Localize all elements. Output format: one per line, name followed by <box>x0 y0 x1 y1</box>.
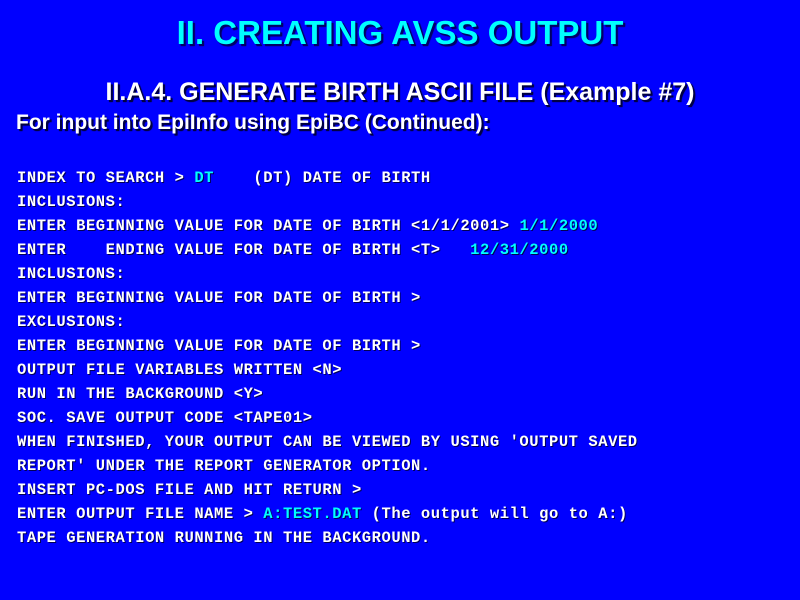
terminal-prompt-text: INDEX TO SEARCH > <box>17 169 194 187</box>
terminal-prompt-text: ENTER OUTPUT FILE NAME > <box>17 505 263 523</box>
line-insert-pc-dos: INSERT PC-DOS FILE AND HIT RETURN > <box>17 478 797 502</box>
terminal-prompt-text: ENTER BEGINNING VALUE FOR DATE OF BIRTH … <box>17 289 421 307</box>
line-report-under: REPORT' UNDER THE REPORT GENERATOR OPTIO… <box>17 454 797 478</box>
terminal-prompt-text: REPORT' UNDER THE REPORT GENERATOR OPTIO… <box>17 457 431 475</box>
terminal-prompt-text: ENTER BEGINNING VALUE FOR DATE OF BIRTH … <box>17 337 421 355</box>
line-tape-generation: TAPE GENERATION RUNNING IN THE BACKGROUN… <box>17 526 797 550</box>
terminal-user-input: 1/1/2000 <box>519 217 598 235</box>
terminal-prompt-text: INCLUSIONS: <box>17 193 125 211</box>
terminal-user-input: A:TEST.DAT <box>263 505 362 523</box>
line-inclusions-1: INCLUSIONS: <box>17 190 797 214</box>
terminal-transcript: INDEX TO SEARCH > DT (DT) DATE OF BIRTHI… <box>17 166 797 550</box>
line-enter-beginning-1: ENTER BEGINNING VALUE FOR DATE OF BIRTH … <box>17 214 797 238</box>
slide-subtitle-secondary: For input into EpiInfo using EpiBC (Cont… <box>16 110 490 135</box>
line-inclusions-2: INCLUSIONS: <box>17 262 797 286</box>
terminal-prompt-text: ENTER ENDING VALUE FOR DATE OF BIRTH <T> <box>17 241 470 259</box>
line-when-finished: WHEN FINISHED, YOUR OUTPUT CAN BE VIEWED… <box>17 430 797 454</box>
presentation-slide: II. CREATING AVSS OUTPUT II.A.4. GENERAT… <box>0 0 800 600</box>
page-title: II. CREATING AVSS OUTPUT <box>0 14 800 52</box>
terminal-prompt-text: ENTER BEGINNING VALUE FOR DATE OF BIRTH … <box>17 217 519 235</box>
terminal-prompt-text: SOC. SAVE OUTPUT CODE <TAPE01> <box>17 409 313 427</box>
terminal-prompt-text: EXCLUSIONS: <box>17 313 125 331</box>
line-enter-beginning-2: ENTER BEGINNING VALUE FOR DATE OF BIRTH … <box>17 286 797 310</box>
terminal-user-input: DT <box>194 169 214 187</box>
terminal-prompt-text: TAPE GENERATION RUNNING IN THE BACKGROUN… <box>17 529 431 547</box>
line-enter-output-file-name: ENTER OUTPUT FILE NAME > A:TEST.DAT (The… <box>17 502 797 526</box>
terminal-prompt-text: (DT) DATE OF BIRTH <box>214 169 431 187</box>
line-exclusions: EXCLUSIONS: <box>17 310 797 334</box>
line-enter-beginning-3: ENTER BEGINNING VALUE FOR DATE OF BIRTH … <box>17 334 797 358</box>
terminal-prompt-text: RUN IN THE BACKGROUND <Y> <box>17 385 263 403</box>
line-output-file-variables: OUTPUT FILE VARIABLES WRITTEN <N> <box>17 358 797 382</box>
line-enter-ending: ENTER ENDING VALUE FOR DATE OF BIRTH <T>… <box>17 238 797 262</box>
line-index-to-search: INDEX TO SEARCH > DT (DT) DATE OF BIRTH <box>17 166 797 190</box>
terminal-prompt-text: OUTPUT FILE VARIABLES WRITTEN <N> <box>17 361 342 379</box>
terminal-prompt-text: INSERT PC-DOS FILE AND HIT RETURN > <box>17 481 362 499</box>
terminal-prompt-text: WHEN FINISHED, YOUR OUTPUT CAN BE VIEWED… <box>17 433 638 451</box>
terminal-prompt-text: (The output will go to A:) <box>362 505 628 523</box>
terminal-prompt-text: INCLUSIONS: <box>17 265 125 283</box>
terminal-user-input: 12/31/2000 <box>470 241 569 259</box>
slide-subtitle-primary: II.A.4. GENERATE BIRTH ASCII FILE (Examp… <box>0 78 800 106</box>
line-run-in-background: RUN IN THE BACKGROUND <Y> <box>17 382 797 406</box>
line-soc-save-output-code: SOC. SAVE OUTPUT CODE <TAPE01> <box>17 406 797 430</box>
